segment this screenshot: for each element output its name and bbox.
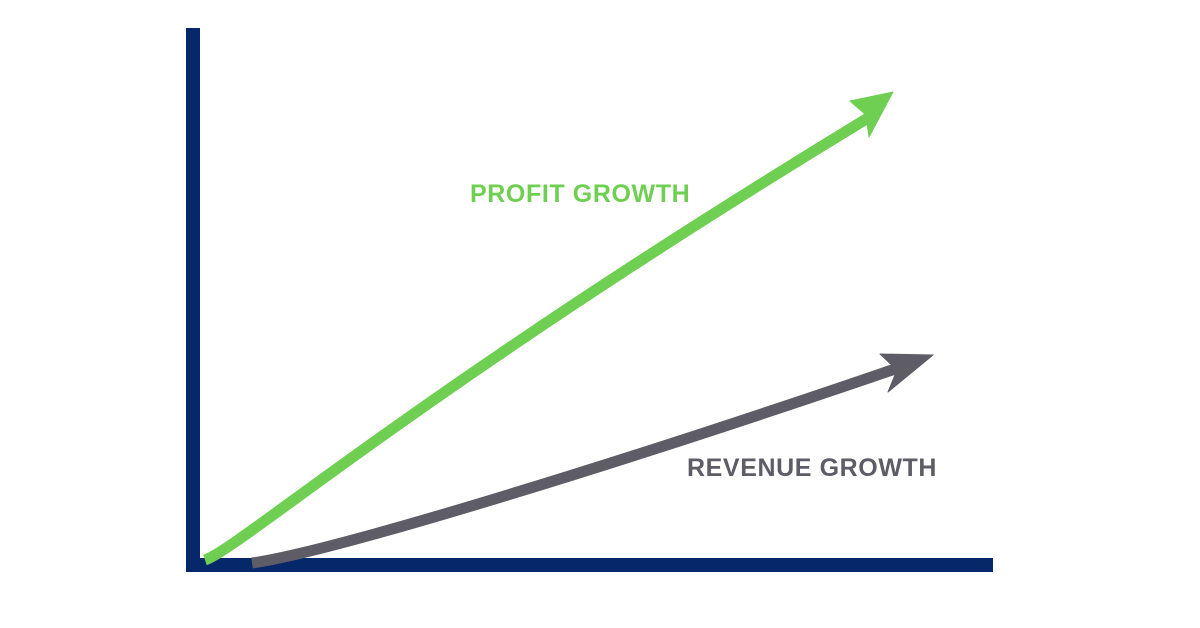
growth-chart: PROFIT GROWTH REVENUE GROWTH bbox=[0, 0, 1200, 628]
chart-canvas bbox=[0, 0, 1200, 628]
revenue-growth-label: REVENUE GROWTH bbox=[687, 456, 937, 481]
y-axis bbox=[186, 28, 200, 572]
x-axis bbox=[186, 558, 993, 572]
profit-growth-label: PROFIT GROWTH bbox=[470, 182, 690, 207]
chart-background bbox=[0, 0, 1200, 628]
